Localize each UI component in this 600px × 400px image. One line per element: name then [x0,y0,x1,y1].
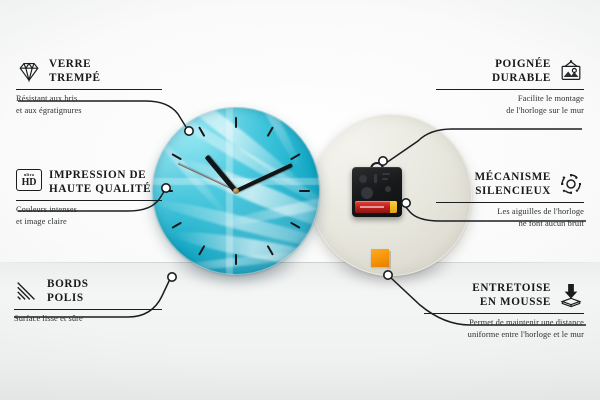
callout-title-line2: POLIS [47,291,89,305]
callout-rule [436,89,584,91]
callout-poignee-durable: POIGNÉE DURABLE Facilite le montage de l… [436,57,584,117]
callout-subtitle: Résistant aux bris et aux égratignures [16,93,164,117]
callout-rule [14,309,162,311]
callout-title-line2: DURABLE [492,71,551,85]
callout-subtitle-line2: de l'horloge sur le mur [436,105,584,117]
callout-title-line2: SILENCIEUX [475,184,551,198]
callout-title: IMPRESSION DE HAUTE QUALITÉ [49,168,151,197]
callout-verre-trempe: VERRE TREMPÉ Résistant aux bris et aux é… [16,57,164,117]
callout-title-line1: ENTRETOISE [472,281,551,295]
diamond-icon [16,58,42,84]
callout-header: ultra HD IMPRESSION DE HAUTE QUALITÉ [16,168,164,197]
callout-title-line1: POIGNÉE [495,57,551,71]
callout-title: BORDS POLIS [47,277,89,306]
callout-subtitle: Permet de maintenir une distance uniform… [424,317,584,341]
callout-subtitle-line2: et aux égratignures [16,105,164,117]
callout-title-line1: BORDS [47,277,89,291]
callout-subtitle: Couleurs intenses et image claire [16,204,164,228]
callout-subtitle-line1: Résistant aux bris [16,93,164,105]
polished-edge-icon [14,278,40,304]
callout-impression-haute-qualite: ultra HD IMPRESSION DE HAUTE QUALITÉ Cou… [16,168,164,228]
callout-subtitle-line2: uniforme entre l'horloge et le mur [424,329,584,341]
ultra-hd-icon-main-text: HD [22,178,37,188]
gear-icon [558,171,584,197]
callout-title-line2: EN MOUSSE [480,295,551,309]
callout-subtitle-line2: ne font aucun bruit [436,218,584,230]
callout-subtitle-line1: Facilite le montage [436,93,584,105]
callout-subtitle: Facilite le montage de l'horloge sur le … [436,93,584,117]
callout-subtitle-line1: Surface lisse et sûre [14,313,162,325]
callout-title-line2: TREMPÉ [49,71,101,85]
callout-header: BORDS POLIS [14,277,162,306]
callout-title-line1: MÉCANISME [475,170,551,184]
callout-rule [424,313,584,315]
callout-subtitle-line1: Les aiguilles de l'horloge [436,206,584,218]
ultra-hd-icon: ultra HD [16,169,42,195]
callout-title-line2: HAUTE QUALITÉ [49,182,151,196]
callout-rule [16,89,162,91]
infographic-canvas: VERRE TREMPÉ Résistant aux bris et aux é… [0,0,600,400]
callout-subtitle: Surface lisse et sûre [14,313,162,325]
callout-title: ENTRETOISE EN MOUSSE [472,281,551,310]
callout-subtitle-line1: Couleurs intenses [16,204,164,216]
callout-rule [16,200,162,202]
callout-subtitle: Les aiguilles de l'horloge ne font aucun… [436,206,584,230]
callout-bords-polis: BORDS POLIS Surface lisse et sûre [14,277,162,325]
callout-mecanisme-silencieux: MÉCANISME SILENCIEUX Les aiguilles de l'… [436,170,584,230]
callout-title: MÉCANISME SILENCIEUX [475,170,551,199]
callout-rule [436,202,584,204]
callout-entretoise-en-mousse: ENTRETOISE EN MOUSSE Permet de maintenir… [424,281,584,341]
callout-header: MÉCANISME SILENCIEUX [436,170,584,199]
callout-title-line1: IMPRESSION DE [49,168,151,182]
callout-header: ENTRETOISE EN MOUSSE [424,281,584,310]
callout-title: POIGNÉE DURABLE [492,57,551,86]
press-pad-icon [558,282,584,308]
hanging-picture-icon [558,58,584,84]
callout-title-line1: VERRE [49,57,101,71]
callout-header: VERRE TREMPÉ [16,57,164,86]
callout-subtitle-line1: Permet de maintenir une distance [424,317,584,329]
callout-title: VERRE TREMPÉ [49,57,101,86]
callout-header: POIGNÉE DURABLE [436,57,584,86]
callout-subtitle-line2: et image claire [16,216,164,228]
